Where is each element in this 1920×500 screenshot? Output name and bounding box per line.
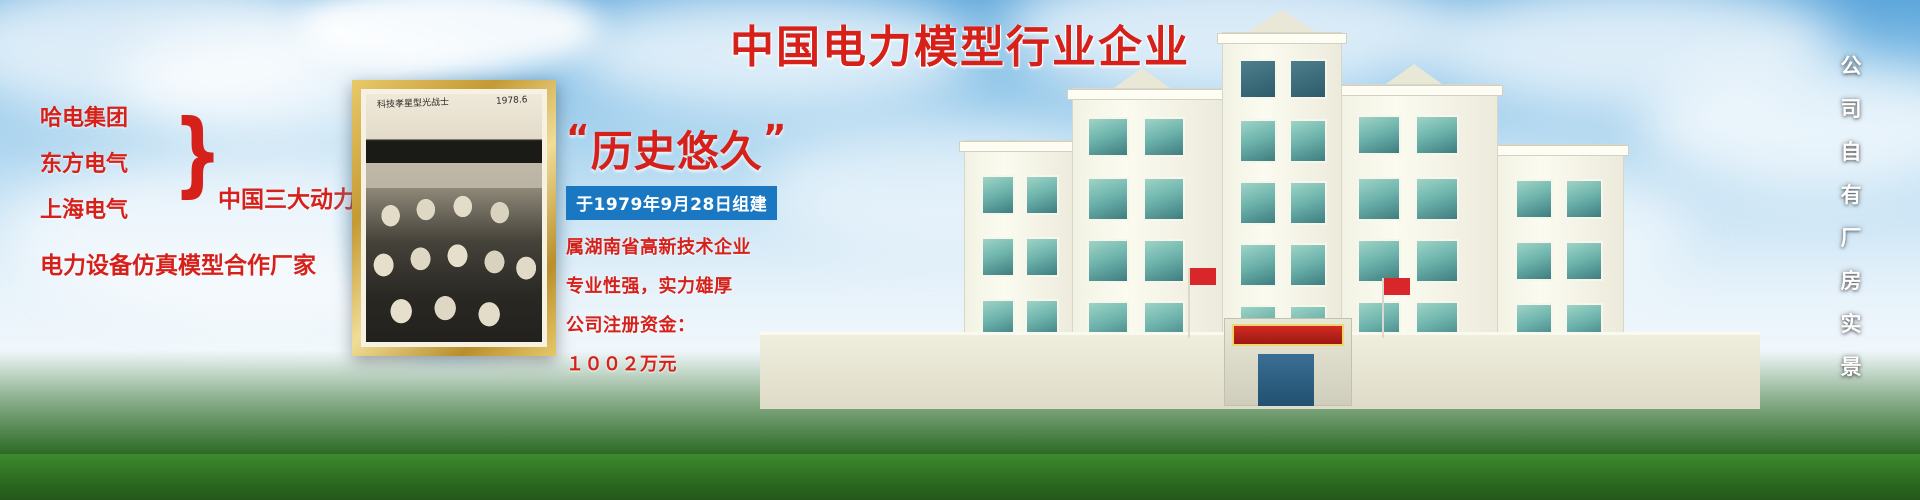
vertical-char: 有 (1834, 185, 1868, 206)
curly-brace-icon: } (173, 106, 222, 202)
grass-strip (0, 454, 1920, 500)
flag-icon (1190, 268, 1216, 285)
gate-sign (1232, 324, 1344, 346)
gate-door (1258, 354, 1314, 406)
center-line: 属湖南省高新技术企业 (566, 233, 866, 259)
status-badge: 于1979年9月28日组建 (566, 186, 777, 220)
vertical-char: 厂 (1834, 228, 1868, 249)
cornice (959, 141, 1081, 152)
cornice (1067, 89, 1229, 100)
photo-banner-strip (366, 141, 542, 163)
vertical-char: 公 (1834, 56, 1868, 77)
cornice (1217, 33, 1347, 44)
quote-text: 历史悠久 (591, 127, 763, 176)
vertical-char: 自 (1834, 142, 1868, 163)
flag-icon (1384, 278, 1410, 295)
right-vertical-text: 公 司 自 有 厂 房 实 景 (1834, 56, 1868, 400)
quote-open-mark: “ (566, 118, 591, 159)
vertical-char: 房 (1834, 271, 1868, 292)
promo-banner: 中国电力模型行业企业 哈电集团 东方电气 上海电气 } 中国三大动力 电力设备仿… (0, 0, 1920, 500)
factory-building-photo (980, 32, 1640, 404)
photo-group-people (366, 188, 542, 342)
cornice (1491, 145, 1629, 156)
photo-frame: 科技孝星型光战士 1978.6 (352, 80, 556, 356)
vertical-char: 景 (1834, 357, 1868, 378)
center-line: 专业性强，实力雄厚 (566, 272, 866, 298)
vertical-char: 实 (1834, 314, 1868, 335)
photo-mat: 科技孝星型光战士 1978.6 (361, 89, 547, 347)
historic-photo: 科技孝星型光战士 1978.6 (366, 94, 542, 342)
quote-close-mark: ” (763, 118, 788, 159)
cornice (1335, 85, 1503, 96)
page-title: 中国电力模型行业企业 (0, 11, 1920, 75)
vertical-char: 司 (1834, 99, 1868, 120)
quote-heading: “历史悠久” (566, 118, 866, 179)
